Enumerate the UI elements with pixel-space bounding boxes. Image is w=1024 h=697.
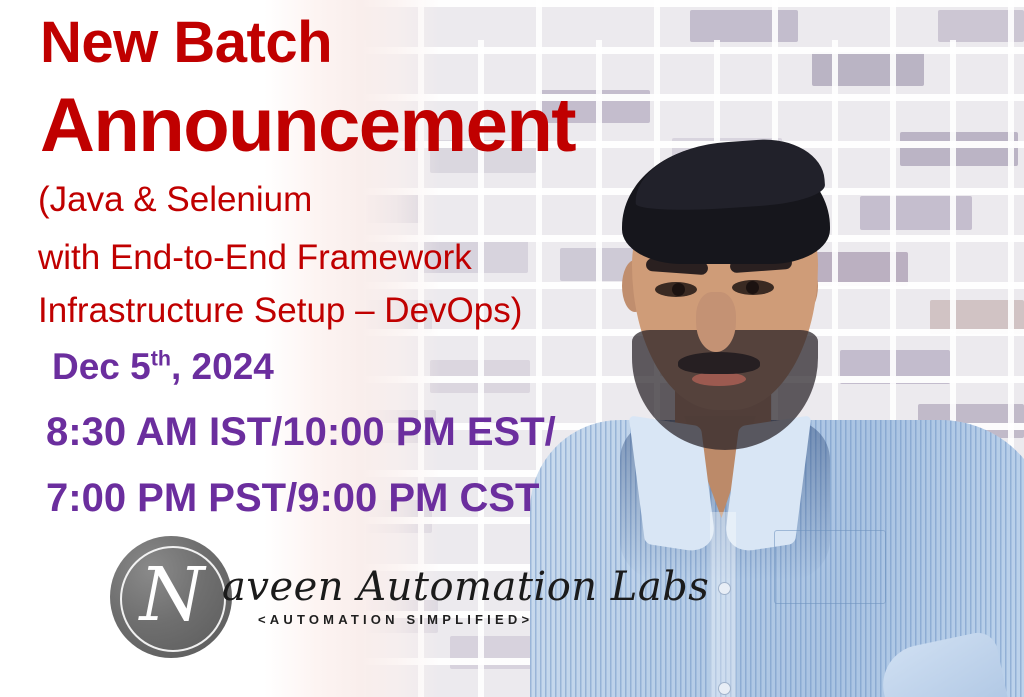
logo-brand-name: aveen Automation Labs (222, 564, 709, 610)
date-ordinal: th (151, 347, 171, 371)
promo-poster: New Batch Announcement (Java & Selenium … (0, 0, 1024, 697)
batch-time-line-2: 7:00 PM PST/9:00 PM CST (46, 478, 539, 518)
date-prefix: Dec 5 (52, 346, 151, 387)
headline-line-2: Announcement (40, 88, 575, 164)
subtitle-line-2: with End-to-End Framework (38, 240, 472, 275)
text-layer: New Batch Announcement (Java & Selenium … (0, 0, 1024, 697)
batch-date: Dec 5th, 2024 (52, 348, 274, 385)
brand-logo: N aveen Automation Labs <AUTOMATION SIMP… (110, 536, 530, 666)
subtitle-line-3: Infrastructure Setup – DevOps) (38, 293, 522, 328)
batch-time-line-1: 8:30 AM IST/10:00 PM EST/ (46, 412, 556, 452)
headline-line-1: New Batch (40, 14, 332, 72)
subtitle-line-1: (Java & Selenium (38, 182, 312, 217)
logo-monogram-n: N (110, 536, 232, 658)
logo-tagline: <AUTOMATION SIMPLIFIED> (258, 612, 533, 627)
date-suffix: , 2024 (171, 346, 274, 387)
